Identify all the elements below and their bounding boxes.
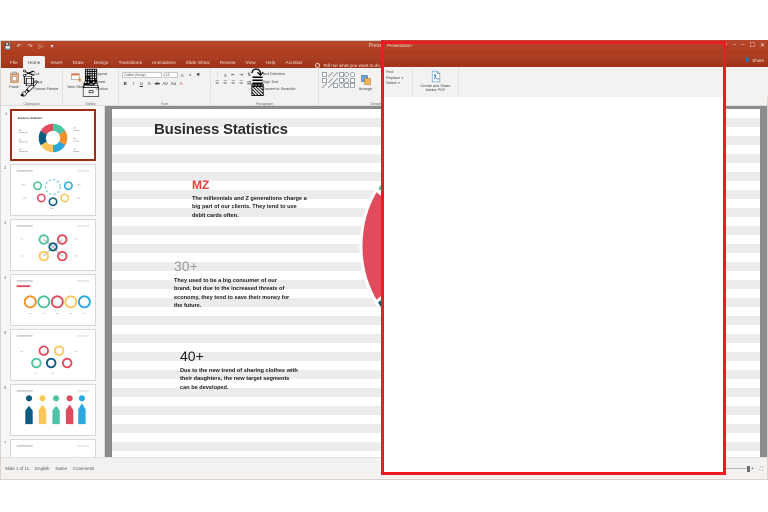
paste-label: Paste [9, 85, 19, 89]
adobe-pdf-icon [429, 70, 442, 83]
svg-text:11%: 11% [77, 198, 81, 200]
create-and-share-adobe-pdf-button[interactable]: Create and Share Adobe PDF [416, 69, 455, 93]
acrobat-share-label: Share [752, 58, 764, 63]
format-painter-icon: 🖌 [26, 86, 32, 92]
slide-thumb-2-preview: 34%28% 17%11% N/A [13, 167, 93, 213]
stat-block-40-body: Due to the new trend of sharing clothes … [180, 367, 298, 392]
slide-thumb-5-preview: texttext texttext [13, 332, 93, 378]
tab-review[interactable]: Review [215, 56, 241, 68]
section-icon: 🗃 [88, 86, 94, 92]
slide-thumb-1[interactable]: 1 Business Statistics [10, 109, 96, 161]
stat-block-mz-heading: MZ [192, 179, 310, 191]
screenshot-root: 💾 ↶ ↷ ▷ ▾ Presentation ☺ ⎯ – ☐ ✕ File Ho… [0, 0, 768, 512]
ribbon-group-paragraph: ⋮ ≡ ⇤ ⇥ ⇅ ☰ ☰ ☰ ☰ ▤ [211, 68, 319, 106]
slide-thumb-1-preview: Business Statistics MZtext text text [14, 113, 92, 157]
ribbon-group-editing: Find Replace ▾ Select ▾ Editing [383, 67, 413, 97]
slide-thumb-3[interactable]: 3 [10, 219, 96, 271]
close-button-2[interactable]: ✕ [760, 42, 765, 49]
account-avatar-icon-2[interactable]: ☺ [722, 42, 728, 49]
svg-text:28%: 28% [77, 185, 81, 187]
acrobat-tab-row: 👤 Share [383, 54, 768, 67]
replace-button[interactable]: Replace ▾ [386, 76, 409, 80]
shapes-gallery[interactable] [322, 72, 355, 96]
decrease-indent-icon[interactable]: ⇤ [230, 72, 237, 79]
acrobat-title-bar: Presentation ☺ ⎯ – ☐ ✕ [383, 40, 768, 54]
ribbon-group-slides: New Slide ▦ Layout ↻ Reset 🗃 [63, 68, 119, 106]
font-color-icon[interactable]: A [178, 80, 185, 87]
acrobat-ribbon-body: Find Replace ▾ Select ▾ Editing [383, 67, 768, 97]
minimize-button-2[interactable]: – [741, 42, 744, 49]
arrange-button[interactable]: Arrange [356, 72, 376, 96]
shape-donut-icon[interactable] [344, 78, 349, 83]
slide-thumb-3-number: 3 [4, 220, 6, 225]
slide-thumb-5[interactable]: 5 texttext texttext [10, 329, 96, 381]
share-icon-2: 👤 [745, 57, 750, 63]
quick-access-toolbar[interactable]: 💾 ↶ ↷ ▷ ▾ [4, 42, 56, 51]
language-indicator[interactable]: English [35, 466, 49, 471]
ribbon-options-icon-2[interactable]: ⎯ [733, 42, 736, 49]
overlay-slide-white-backing [384, 97, 723, 472]
numbering-icon[interactable]: ≡ [222, 72, 229, 79]
slide-thumb-7-number: 7 [4, 440, 6, 445]
shape-star-icon[interactable] [344, 83, 349, 88]
shape-banner-icon[interactable] [350, 83, 355, 88]
shape-curve-icon[interactable] [328, 78, 333, 83]
redo-icon[interactable]: ↷ [26, 42, 34, 51]
clear-formatting-icon[interactable]: ✖ [195, 72, 202, 79]
slide-thumb-7-preview: texttext [13, 442, 93, 457]
tab-file[interactable]: File [5, 56, 23, 68]
change-case-icon[interactable]: Aa [170, 80, 177, 87]
slide-thumb-2-number: 2 [4, 165, 6, 170]
align-center-icon[interactable]: ☰ [222, 80, 229, 87]
chevron-down-icon-select[interactable]: ▾ [398, 81, 400, 85]
shape-textbox-icon[interactable] [339, 78, 344, 83]
ribbon-group-adobe-acrobat: Create and Share Adobe PDF Adobe Acrobat [413, 67, 459, 97]
slide-thumb-4-number: 4 [4, 275, 6, 280]
zoom-knob[interactable] [747, 466, 750, 472]
increase-indent-icon[interactable]: ⇥ [238, 72, 245, 79]
arrange-icon [359, 73, 372, 86]
font-name-input[interactable]: Calibri (Body) [122, 72, 162, 78]
slide-thumb-6[interactable]: 6 [10, 384, 96, 436]
find-button[interactable]: Find [386, 70, 409, 74]
svg-text:Business Statistics: Business Statistics [18, 116, 43, 120]
section-label: Section [96, 87, 109, 91]
increase-font-size-icon[interactable]: A [179, 72, 186, 79]
shape-elbow-icon[interactable] [322, 83, 327, 88]
smartart-label: Convert to SmartArt [262, 87, 296, 91]
start-slideshow-icon[interactable]: ▷ [37, 42, 45, 51]
slide-thumb-5-number: 5 [4, 330, 6, 335]
character-spacing-icon[interactable]: AV [162, 80, 169, 87]
customize-qat-icon[interactable]: ▾ [48, 42, 56, 51]
paragraph-small-buttons: ↷ Text Direction ≣ Align Text ▧ Convert … [255, 70, 296, 92]
italic-icon[interactable]: I [130, 80, 137, 87]
select-button[interactable]: Select ▾ [386, 81, 409, 85]
bold-icon[interactable]: B [122, 80, 129, 87]
chevron-down-icon-replace[interactable]: ▾ [401, 76, 403, 80]
shape-ellipse-icon[interactable] [339, 83, 344, 88]
fit-to-window-icon[interactable]: ⛶ [760, 466, 763, 471]
ribbon-group-clipboard: Paste ✂ Cut ⧉ Copy 🖌 Format [1, 68, 63, 106]
shape-line-icon[interactable] [328, 72, 333, 77]
shape-pentagon-icon[interactable] [333, 83, 338, 88]
select-label: Select [386, 81, 397, 85]
slide-thumb-6-number: 6 [4, 385, 6, 390]
align-right-icon[interactable]: ☰ [230, 80, 237, 87]
stat-block-30-heading: 30+ [174, 259, 292, 273]
shape-arrow-icon[interactable] [333, 72, 338, 77]
smartart-icon: ▧ [255, 86, 261, 92]
shape-rounded-rect-icon[interactable] [350, 78, 355, 83]
find-label: Find [386, 70, 393, 74]
shape-circle-icon[interactable] [350, 72, 355, 77]
shape-rectangle-icon[interactable] [322, 72, 327, 77]
create-and-share-adobe-pdf-label: Create and Share Adobe PDF [416, 84, 455, 93]
notes-button[interactable]: Notes [56, 466, 67, 471]
strikethrough-icon[interactable]: ab [154, 80, 161, 87]
svg-text:17%: 17% [23, 198, 27, 200]
underline-icon[interactable]: U [138, 80, 145, 87]
text-direction-label: Text Direction [262, 72, 285, 76]
zoom-in-icon[interactable]: + [751, 466, 754, 472]
slide-thumb-2[interactable]: 2 34%28% 17%11% [10, 164, 96, 216]
clipboard-small-buttons: ✂ Cut ⧉ Copy 🖌 Format Painter [26, 70, 59, 92]
stat-block-30: 30+ They used to be a big consumer of ou… [174, 259, 292, 311]
slide-thumb-4[interactable]: 4 [10, 274, 96, 326]
slide-counter: Slide 1 of 11 [5, 466, 29, 471]
ribbon-group-font: Calibri (Body) 18 A A ✖ B I U S ab AV Aa [119, 68, 211, 106]
stat-block-40: 40+ Due to the new trend of sharing clot… [180, 349, 298, 392]
slide-thumb-6-preview [13, 387, 93, 433]
arrange-label: Arrange [359, 87, 373, 91]
section-button[interactable]: 🗃 Section [88, 86, 108, 92]
undo-icon[interactable]: ↶ [15, 42, 23, 51]
page-title: Business Statistics [154, 121, 288, 138]
slide-thumb-7[interactable]: 7 texttext [10, 439, 96, 457]
tab-transitions[interactable]: Transitions [114, 56, 147, 68]
tab-insert[interactable]: Insert [45, 56, 67, 68]
stat-block-mz: MZ The millennials and Z generations cha… [192, 179, 310, 220]
slide-thumb-1-number: 1 [5, 111, 7, 116]
save-icon[interactable]: 💾 [4, 42, 12, 51]
zoom-track[interactable] [719, 468, 749, 469]
tab-animations[interactable]: Animations [147, 56, 181, 68]
shape-oval-icon[interactable] [344, 72, 349, 77]
restore-button-2[interactable]: ☐ [750, 42, 755, 49]
decrease-font-size-icon[interactable]: A [187, 72, 194, 79]
format-painter-label: Format Painter [34, 87, 59, 91]
justify-icon[interactable]: ☰ [238, 80, 245, 87]
shape-double-arrow-icon[interactable] [328, 83, 333, 88]
slides-small-buttons: ▦ Layout ↻ Reset 🗃 Section [88, 70, 108, 92]
shape-freeform-icon[interactable] [333, 78, 338, 83]
align-left-icon[interactable]: ☰ [214, 80, 221, 87]
tab-acrobat[interactable]: Acrobat [281, 56, 308, 68]
slide-thumb-4-preview: texttext texttexttext [13, 277, 93, 323]
shape-square-icon[interactable] [322, 78, 327, 83]
slide-thumb-3-preview: texttext texttext [13, 222, 93, 268]
text-shadow-icon[interactable]: S [146, 80, 153, 87]
font-size-input[interactable]: 18 [164, 72, 178, 78]
replace-label: Replace [386, 76, 400, 80]
format-painter-button[interactable]: 🖌 Format Painter [26, 86, 59, 92]
comments-button[interactable]: Comments [73, 466, 94, 471]
tab-slide-show[interactable]: Slide Show [181, 56, 215, 68]
acrobat-window-controls[interactable]: ☺ ⎯ – ☐ ✕ [722, 42, 765, 49]
stat-block-mz-body: The millennials and Z generations charge… [192, 195, 310, 220]
acrobat-share-button[interactable]: 👤 Share [745, 57, 764, 63]
shape-connector-icon[interactable] [339, 72, 344, 77]
bullets-icon[interactable]: ⋮ [214, 72, 221, 79]
slide-thumbnail-pane[interactable]: 1 Business Statistics [1, 106, 105, 457]
acrobat-overlay-window: Presentation ☺ ⎯ – ☐ ✕ 👤 Share Find [381, 40, 768, 97]
convert-to-smartart-button[interactable]: ▧ Convert to SmartArt [255, 86, 296, 92]
stat-block-40-heading: 40+ [180, 349, 298, 363]
svg-text:34%: 34% [22, 185, 26, 187]
acrobat-window-title: Presentation [387, 43, 412, 48]
stat-block-30-body: They used to be a big consumer of our br… [174, 277, 292, 311]
